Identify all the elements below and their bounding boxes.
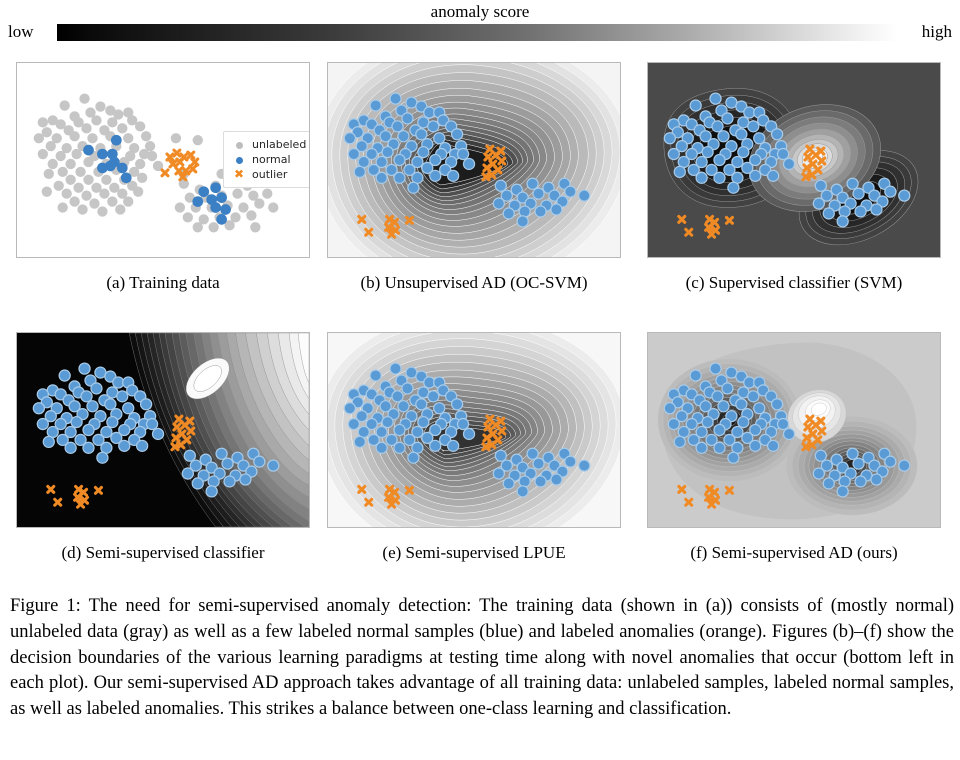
panel-b-caption: (b) Unsupervised AD (OC-SVM) — [319, 273, 629, 293]
legend: unlabeled normal ✖ outlier — [223, 131, 310, 188]
legend-label-normal: normal — [252, 152, 291, 167]
panel-f-caption: (f) Semi-supervised AD (ours) — [639, 543, 949, 563]
legend-label-unlabeled: unlabeled — [252, 137, 306, 152]
panel-e-plot — [328, 333, 620, 527]
panel-e-caption: (e) Semi-supervised LPUE — [319, 543, 629, 563]
legend-label-outlier: outlier — [252, 167, 287, 182]
legend-item-outlier: ✖ outlier — [230, 167, 306, 182]
colorbar-high-label: high — [922, 22, 952, 42]
panel-c-plot — [648, 63, 940, 257]
colorbar-area: anomaly score low high — [0, 0, 960, 52]
panel-e-semisupervised-lpue — [327, 332, 621, 528]
panel-d-semisupervised-classifier — [16, 332, 310, 528]
panel-f-plot — [648, 333, 940, 527]
panel-a-caption: (a) Training data — [8, 273, 318, 293]
unlabeled-dot-icon — [230, 137, 248, 152]
colorbar-low-label: low — [8, 22, 34, 42]
outlier-x-icon: ✖ — [230, 169, 248, 180]
panel-f-semisupervised-ad-ours — [647, 332, 941, 528]
legend-item-unlabeled: unlabeled — [230, 137, 306, 152]
normal-dot-icon — [230, 152, 248, 167]
panel-b-plot — [328, 63, 620, 257]
colorbar-title: anomaly score — [0, 2, 960, 22]
colorbar-gradient — [57, 24, 898, 41]
panel-c-caption: (c) Supervised classifier (SVM) — [639, 273, 949, 293]
panel-d-caption: (d) Semi-supervised classifier — [8, 543, 318, 563]
panel-d-plot — [17, 333, 309, 527]
panel-b-unsupervised-ad — [327, 62, 621, 258]
legend-item-normal: normal — [230, 152, 306, 167]
panel-a-training-data: unlabeled normal ✖ outlier — [16, 62, 310, 258]
figure-caption: Figure 1: The need for semi-supervised a… — [10, 594, 954, 723]
panel-c-supervised-classifier — [647, 62, 941, 258]
